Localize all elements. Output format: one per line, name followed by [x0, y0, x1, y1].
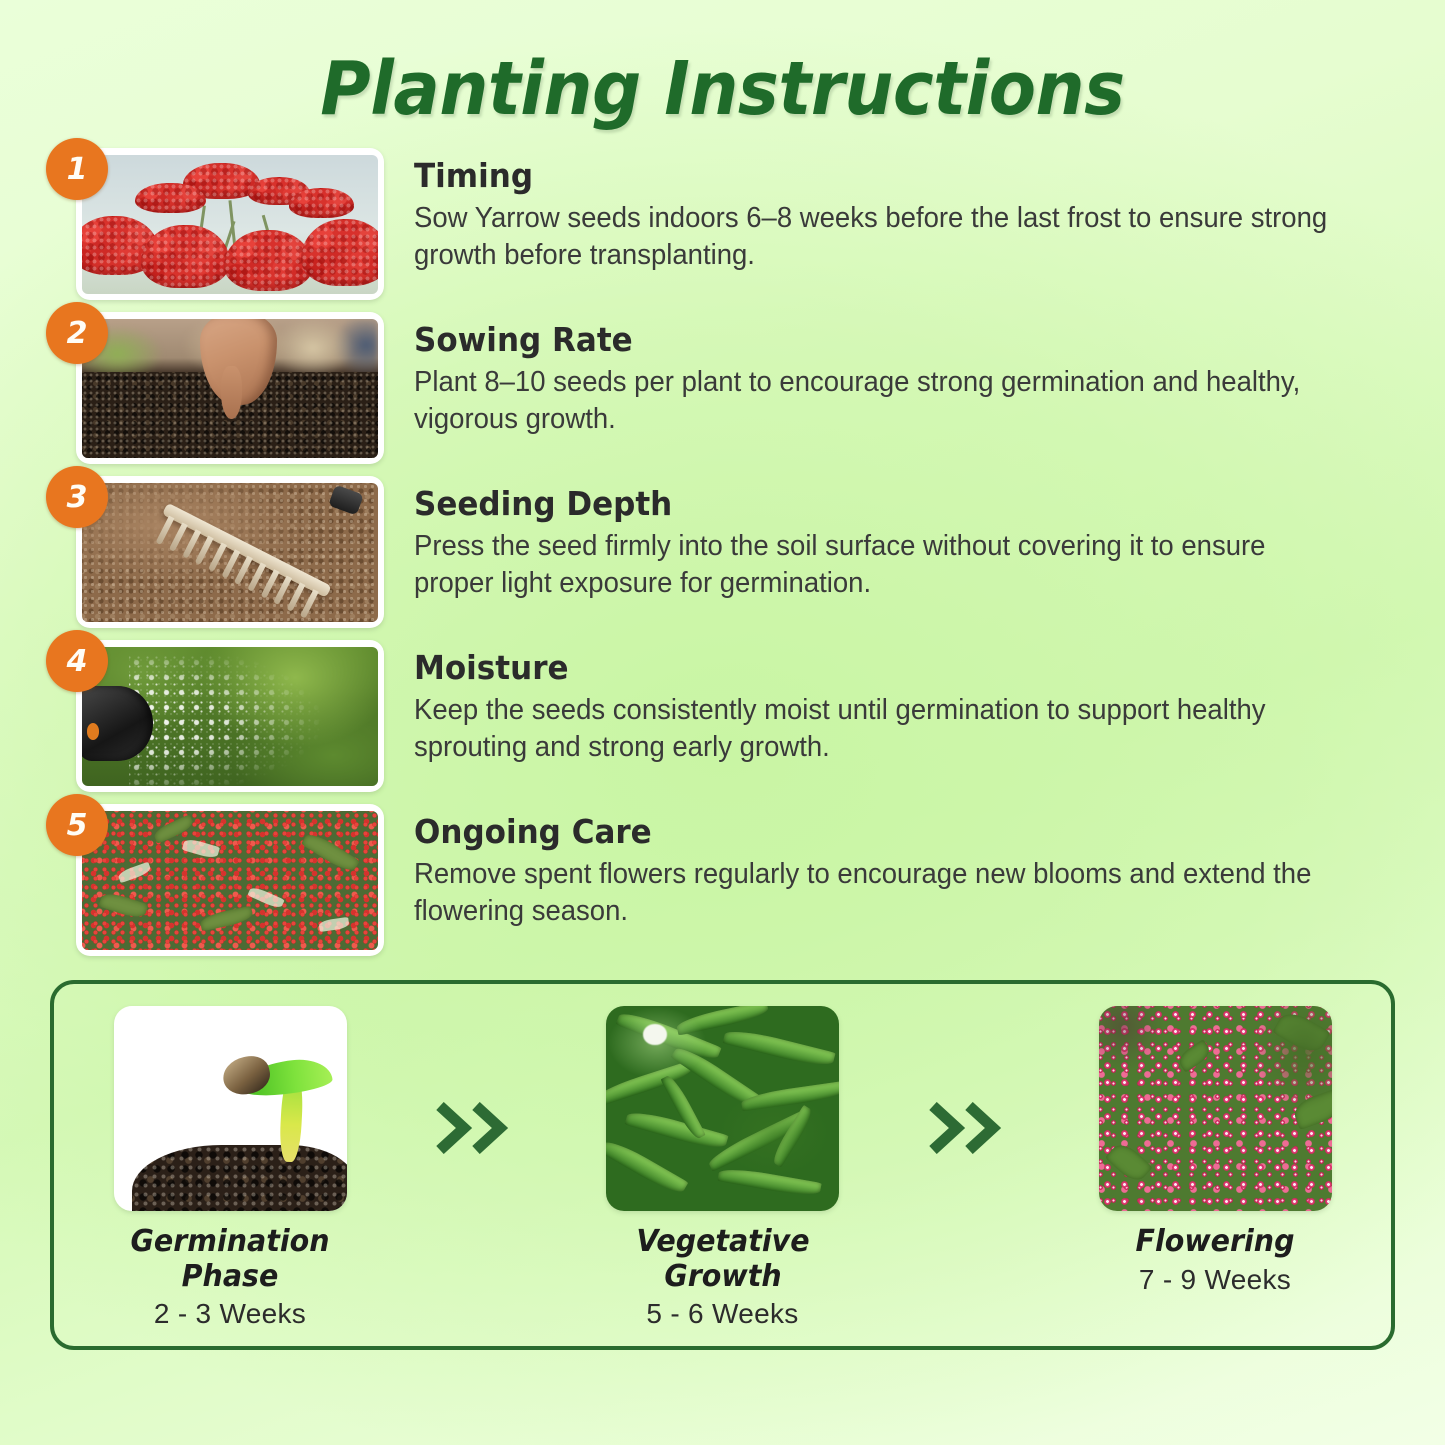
hose-nozzle-watering-spray-photo: [82, 647, 378, 786]
growth-timeline-panel: Germination Phase 2 - 3 Weeks: [50, 980, 1395, 1350]
step-image-frame: [76, 476, 384, 628]
list-item: 4 Moisture Keep the seeds consistently m…: [76, 640, 1387, 792]
step-number-badge: 4: [46, 630, 108, 692]
rake-on-soil-photo: [82, 483, 378, 622]
step-title: Ongoing Care: [414, 814, 1329, 850]
step-title: Timing: [414, 158, 1329, 194]
step-body: Press the seed firmly into the soil surf…: [414, 528, 1340, 602]
list-item: 1: [76, 148, 1387, 300]
green-foliage-photo: [606, 1006, 839, 1211]
red-yarrow-flowers-photo: [82, 155, 378, 294]
red-yarrow-bloom-cluster-photo: [82, 811, 378, 950]
timeline-phase-flowering: Flowering 7 - 9 Weeks: [1065, 1006, 1365, 1296]
step-image-frame: [76, 804, 384, 956]
step-text: Moisture Keep the seeds consistently moi…: [384, 640, 1387, 766]
step-body: Keep the seeds consistently moist until …: [414, 692, 1340, 766]
step-number-badge: 2: [46, 302, 108, 364]
step-thumbnail-wrap: 1: [76, 148, 384, 300]
step-thumbnail-wrap: 4: [76, 640, 384, 792]
step-body: Plant 8–10 seeds per plant to encourage …: [414, 364, 1340, 438]
sprouting-seedling-photo: [114, 1006, 347, 1211]
list-item: 3 Seeding Depth: [76, 476, 1387, 628]
step-text: Timing Sow Yarrow seeds indoors 6–8 week…: [384, 148, 1387, 274]
step-text: Sowing Rate Plant 8–10 seeds per plant t…: [384, 312, 1387, 438]
step-title: Moisture: [414, 650, 1329, 686]
phase-name: Germination Phase: [88, 1225, 373, 1294]
step-image-frame: [76, 148, 384, 300]
timeline-phase-vegetative: Vegetative Growth 5 - 6 Weeks: [573, 1006, 873, 1330]
phase-duration: 5 - 6 Weeks: [573, 1298, 873, 1330]
list-item: 2 Sowing Rate Plant 8–10 seeds per plant…: [76, 312, 1387, 464]
step-thumbnail-wrap: 2: [76, 312, 384, 464]
phase-name: Vegetative Growth: [580, 1225, 865, 1294]
step-body: Remove spent flowers regularly to encour…: [414, 856, 1340, 930]
step-title: Seeding Depth: [414, 486, 1329, 522]
step-text: Ongoing Care Remove spent flowers regula…: [384, 804, 1387, 930]
double-chevron-right-icon: [919, 1006, 1019, 1154]
step-number-badge: 5: [46, 794, 108, 856]
step-title: Sowing Rate: [414, 322, 1329, 358]
step-number-badge: 3: [46, 466, 108, 528]
step-image-frame: [76, 640, 384, 792]
hand-sowing-seeds-in-soil-photo: [82, 319, 378, 458]
page-title: Planting Instructions: [320, 52, 1124, 126]
list-item: 5 Ongoing Car: [76, 804, 1387, 956]
pink-yarrow-flowers-photo: [1099, 1006, 1332, 1211]
phase-name: Flowering: [1073, 1225, 1358, 1260]
phase-duration: 2 - 3 Weeks: [80, 1298, 380, 1330]
step-body: Sow Yarrow seeds indoors 6–8 weeks befor…: [414, 200, 1340, 274]
phase-duration: 7 - 9 Weeks: [1065, 1264, 1365, 1296]
step-number-badge: 1: [46, 138, 108, 200]
instruction-steps-list: 1: [0, 148, 1445, 956]
timeline-phase-germination: Germination Phase 2 - 3 Weeks: [80, 1006, 380, 1330]
double-chevron-right-icon: [426, 1006, 526, 1154]
step-text: Seeding Depth Press the seed firmly into…: [384, 476, 1387, 602]
step-thumbnail-wrap: 3: [76, 476, 384, 628]
header: Planting Instructions: [0, 0, 1445, 126]
step-thumbnail-wrap: 5: [76, 804, 384, 956]
step-image-frame: [76, 312, 384, 464]
